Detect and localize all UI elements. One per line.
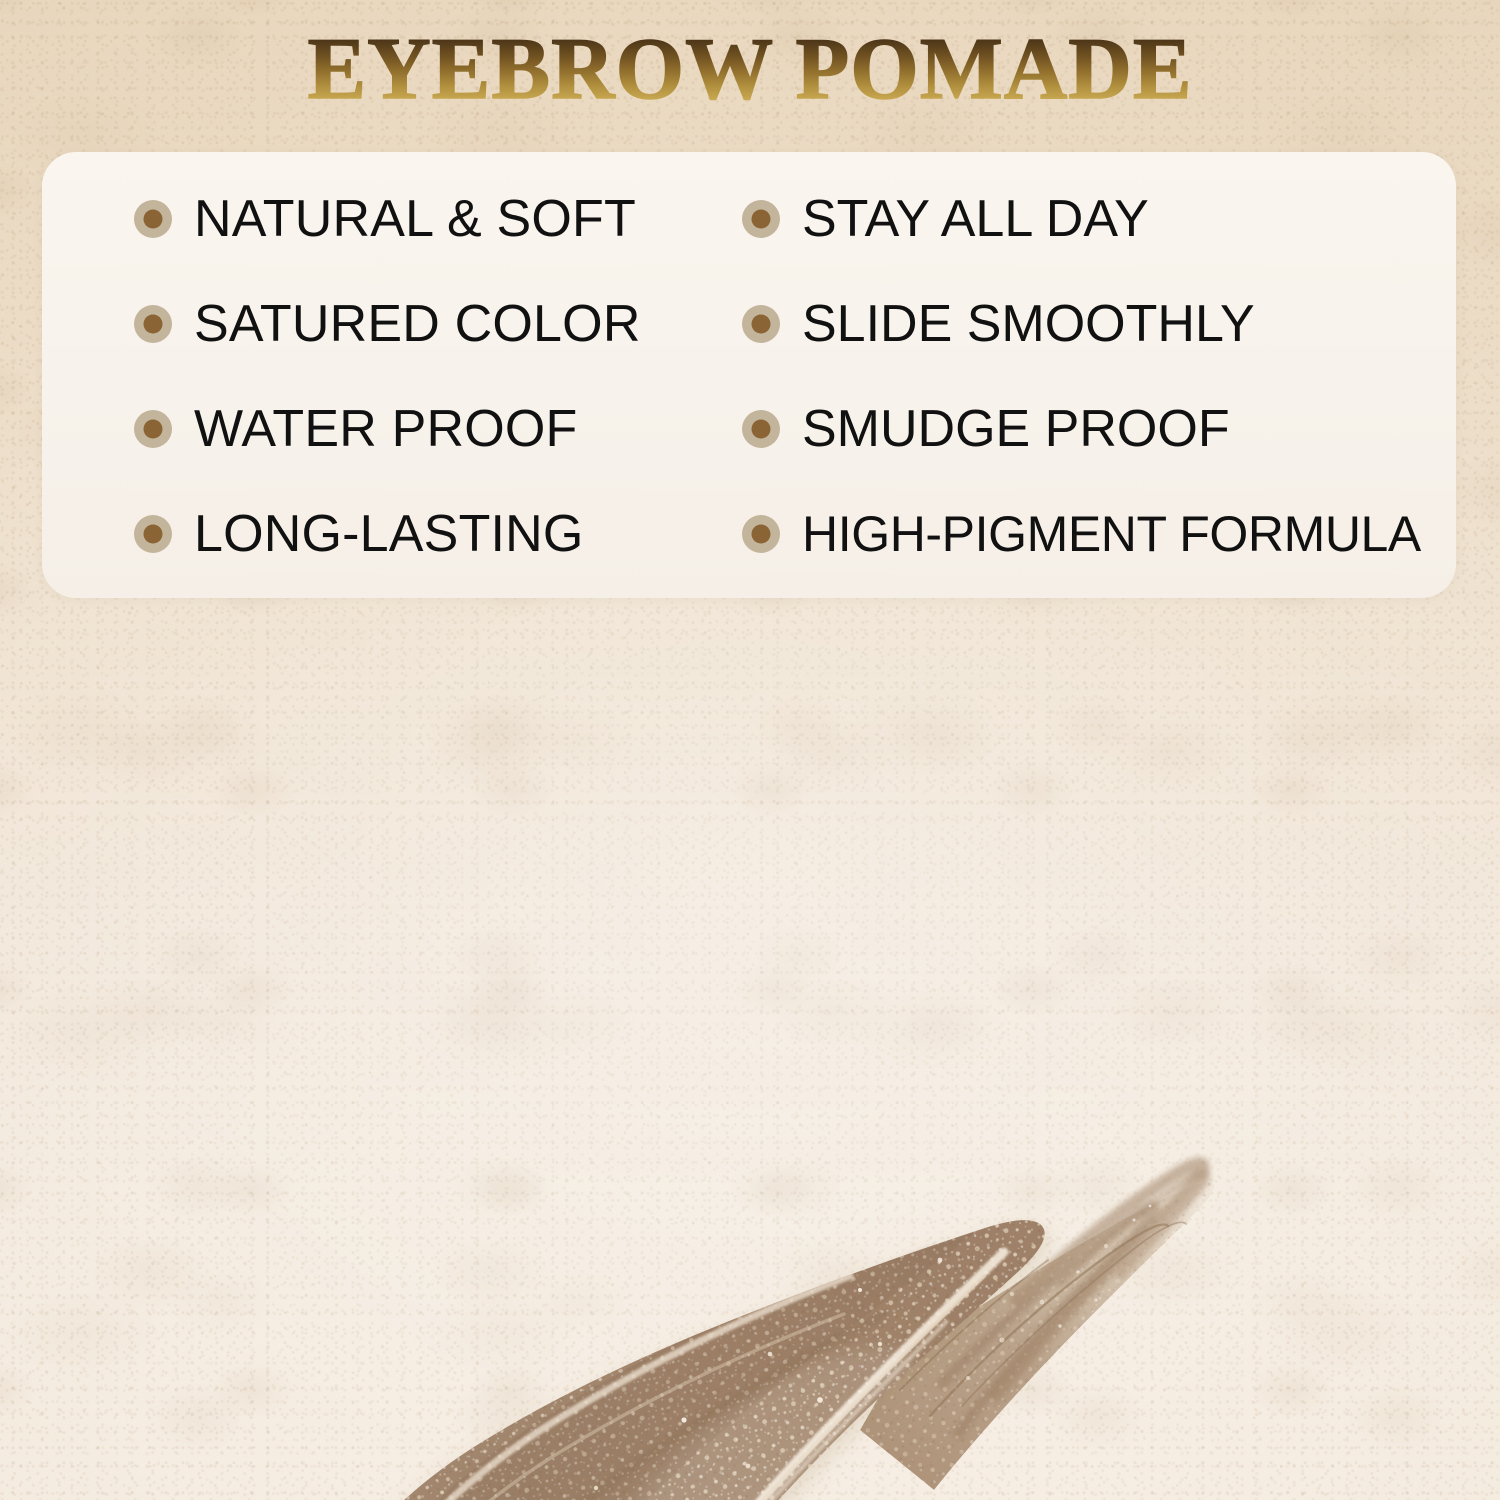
feature-item-natural-soft: NATURAL & SOFT — [42, 166, 634, 271]
bullet-dot-icon — [742, 305, 780, 343]
feature-item-high-pigment-formula: HIGH-PIGMENT FORMULA — [634, 481, 1456, 586]
feature-label: SATURED COLOR — [194, 298, 641, 350]
feature-grid: NATURAL & SOFT STAY ALL DAY SATURED COLO… — [42, 152, 1456, 598]
bullet-dot-icon — [742, 410, 780, 448]
feature-item-water-proof: WATER PROOF — [42, 376, 634, 481]
feature-label: LONG-LASTING — [194, 508, 584, 560]
product-feature-banner: EYEBROW POMADE NATURAL & SOFT STAY ALL D… — [0, 0, 1500, 1500]
bullet-dot-icon — [134, 515, 172, 553]
bullet-dot-icon — [742, 200, 780, 238]
feature-item-smudge-proof: SMUDGE PROOF — [634, 376, 1456, 481]
feature-label: SLIDE SMOOTHLY — [802, 298, 1255, 350]
feature-label: WATER PROOF — [194, 403, 578, 455]
pomade-smear-swatch — [0, 600, 1500, 1500]
bullet-dot-icon — [134, 410, 172, 448]
feature-item-satured-color: SATURED COLOR — [42, 271, 634, 376]
feature-label: STAY ALL DAY — [802, 193, 1149, 245]
bullet-dot-icon — [742, 515, 780, 553]
feature-item-long-lasting: LONG-LASTING — [42, 481, 634, 586]
feature-item-stay-all-day: STAY ALL DAY — [634, 166, 1456, 271]
feature-label: HIGH-PIGMENT FORMULA — [802, 509, 1421, 559]
bullet-dot-icon — [134, 305, 172, 343]
feature-label: NATURAL & SOFT — [194, 193, 636, 245]
feature-item-slide-smoothly: SLIDE SMOOTHLY — [634, 271, 1456, 376]
feature-label: SMUDGE PROOF — [802, 403, 1230, 455]
feature-list-card: NATURAL & SOFT STAY ALL DAY SATURED COLO… — [42, 152, 1456, 598]
bullet-dot-icon — [134, 200, 172, 238]
page-title: EYEBROW POMADE — [0, 26, 1500, 114]
pomade-swatch-area — [0, 600, 1500, 1500]
